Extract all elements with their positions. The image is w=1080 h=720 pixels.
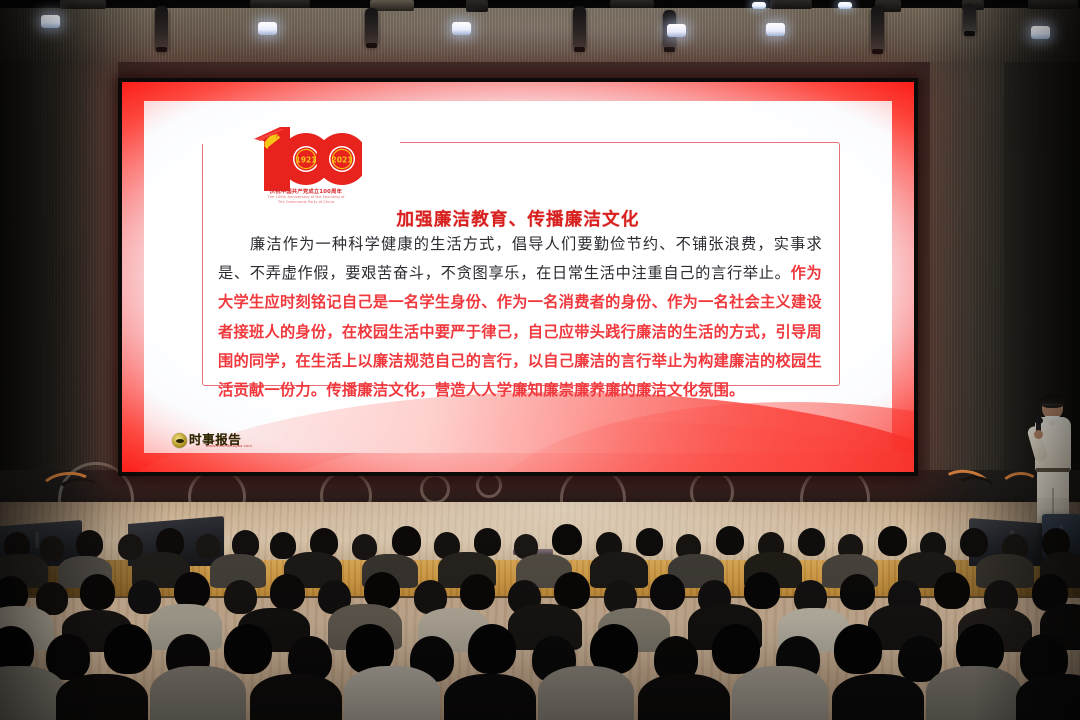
audience-head xyxy=(716,526,744,555)
audience-body xyxy=(250,674,342,720)
emblem-subtitle-en-line2: The Communist Party of China xyxy=(242,200,370,205)
glasses-icon xyxy=(1042,404,1062,408)
audience-head xyxy=(270,574,305,610)
emblem-subtitle-en: The 100th Anniversary of the Founding of… xyxy=(242,195,370,205)
ceiling-fixture xyxy=(250,0,310,8)
audience-body xyxy=(638,674,730,720)
audience-head xyxy=(460,574,495,610)
audience-head xyxy=(196,534,220,559)
ceiling-fixture xyxy=(1028,0,1078,9)
stage-lamp xyxy=(365,8,378,46)
audience-head xyxy=(554,572,590,609)
emblem-svg: 1921 2021 xyxy=(250,125,362,193)
spotlight xyxy=(41,15,60,28)
audience-body xyxy=(538,666,634,720)
led-screen: 1921 2021 庆祝中国共产党成立100周年 The 100th Anniv… xyxy=(122,82,914,472)
led-screen-frame: 1921 2021 庆祝中国共产党成立100周年 The 100th Anniv… xyxy=(118,78,918,476)
audience-crowd xyxy=(0,498,1080,720)
microphone-head-icon xyxy=(1035,417,1043,424)
audience-head xyxy=(744,572,780,609)
spotlight xyxy=(452,22,471,35)
ceiling-fixture xyxy=(466,0,488,12)
audience-head xyxy=(128,580,161,614)
spotlight xyxy=(258,22,277,35)
ceiling-fixture xyxy=(610,0,654,8)
audience-body xyxy=(732,666,828,720)
audience-body xyxy=(1016,674,1080,720)
audience-body xyxy=(56,674,148,720)
audience-head xyxy=(80,574,115,610)
ceiling-fixture xyxy=(770,0,812,9)
brand-watermark: 时事报告 www.shishibaogao.com xyxy=(172,433,241,448)
audience-body xyxy=(926,666,1022,720)
audience-head xyxy=(834,624,882,674)
svg-text:2021: 2021 xyxy=(331,155,352,164)
audience-head xyxy=(878,526,907,556)
emblem-subtitle-cn: 庆祝中国共产党成立100周年 xyxy=(250,187,362,195)
cpc-100th-anniversary-emblem: 1921 2021 xyxy=(250,125,362,193)
spotlight xyxy=(752,2,766,9)
audience-head xyxy=(712,624,760,674)
spotlight xyxy=(838,2,852,9)
audience-head xyxy=(104,624,152,674)
slide-body-highlight: 作为大学生应时刻铭记自己是一名学生身份、作为一名消费者的身份、作为一名社会主义建… xyxy=(218,264,822,399)
spotlight xyxy=(1031,26,1050,39)
slide-title: 加强廉洁教育、传播廉洁文化 xyxy=(122,206,914,231)
audience-head xyxy=(392,526,421,556)
audience-head xyxy=(960,528,988,557)
audience-body xyxy=(344,666,440,720)
audience-body xyxy=(832,674,924,720)
audience-head xyxy=(650,574,685,610)
stage-lamp xyxy=(155,6,168,50)
stage-lamp xyxy=(573,6,586,50)
audience-head xyxy=(934,572,970,609)
audience-head xyxy=(798,528,825,556)
audience-body xyxy=(444,674,536,720)
eye-logo-icon xyxy=(172,433,187,448)
audience-head xyxy=(636,528,663,556)
svg-text:1921: 1921 xyxy=(295,155,316,164)
stage-lamp xyxy=(871,6,884,52)
audience-head xyxy=(468,624,516,674)
presenter-hand xyxy=(1034,430,1043,439)
ceiling-fixture xyxy=(60,0,106,9)
brand-url: www.shishibaogao.com xyxy=(206,444,252,448)
presenter-belt xyxy=(1036,468,1070,472)
audience-head xyxy=(76,530,103,558)
auditorium-scene: 1921 2021 庆祝中国共产党成立100周年 The 100th Anniv… xyxy=(0,0,1080,720)
audience-head xyxy=(840,574,875,610)
stage-lamp xyxy=(963,4,976,34)
audience-head xyxy=(552,524,582,555)
audience-head xyxy=(224,580,257,614)
slide-body-text: 廉洁作为一种科学健康的生活方式，倡导人们要勤俭节约、不铺张浪费，实事求是、不弄虚… xyxy=(218,230,822,405)
spotlight xyxy=(766,23,785,36)
spotlight xyxy=(667,24,686,37)
slide-body-plain: 廉洁作为一种科学健康的生活方式，倡导人们要勤俭节约、不铺张浪费，实事求是、不弄虚… xyxy=(218,235,822,282)
audience-head xyxy=(40,536,64,561)
audience-head xyxy=(224,624,272,674)
audience-body xyxy=(150,666,246,720)
